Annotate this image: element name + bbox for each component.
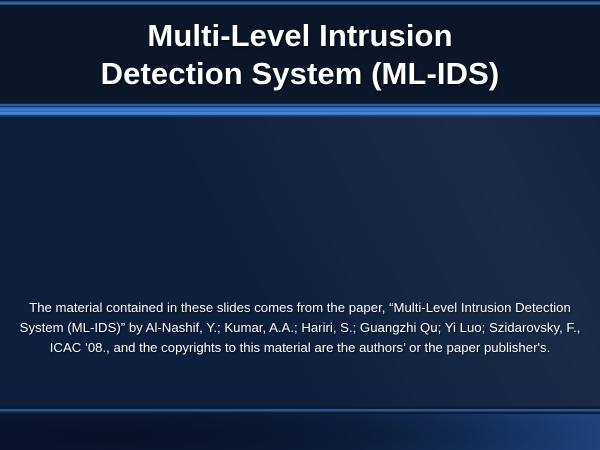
banner-bottom-accent-rule bbox=[0, 102, 600, 118]
footer-band bbox=[0, 414, 600, 450]
top-accent-rule bbox=[0, 0, 600, 7]
title-banner: Multi-Level Intrusion Detection System (… bbox=[0, 7, 600, 102]
attribution-paragraph: The material contained in these slides c… bbox=[14, 298, 586, 359]
slide-canvas: Multi-Level Intrusion Detection System (… bbox=[0, 0, 600, 450]
slide-title-line-2: Detection System (ML-IDS) bbox=[101, 55, 500, 93]
slide-title-line-1: Multi-Level Intrusion bbox=[147, 17, 452, 55]
